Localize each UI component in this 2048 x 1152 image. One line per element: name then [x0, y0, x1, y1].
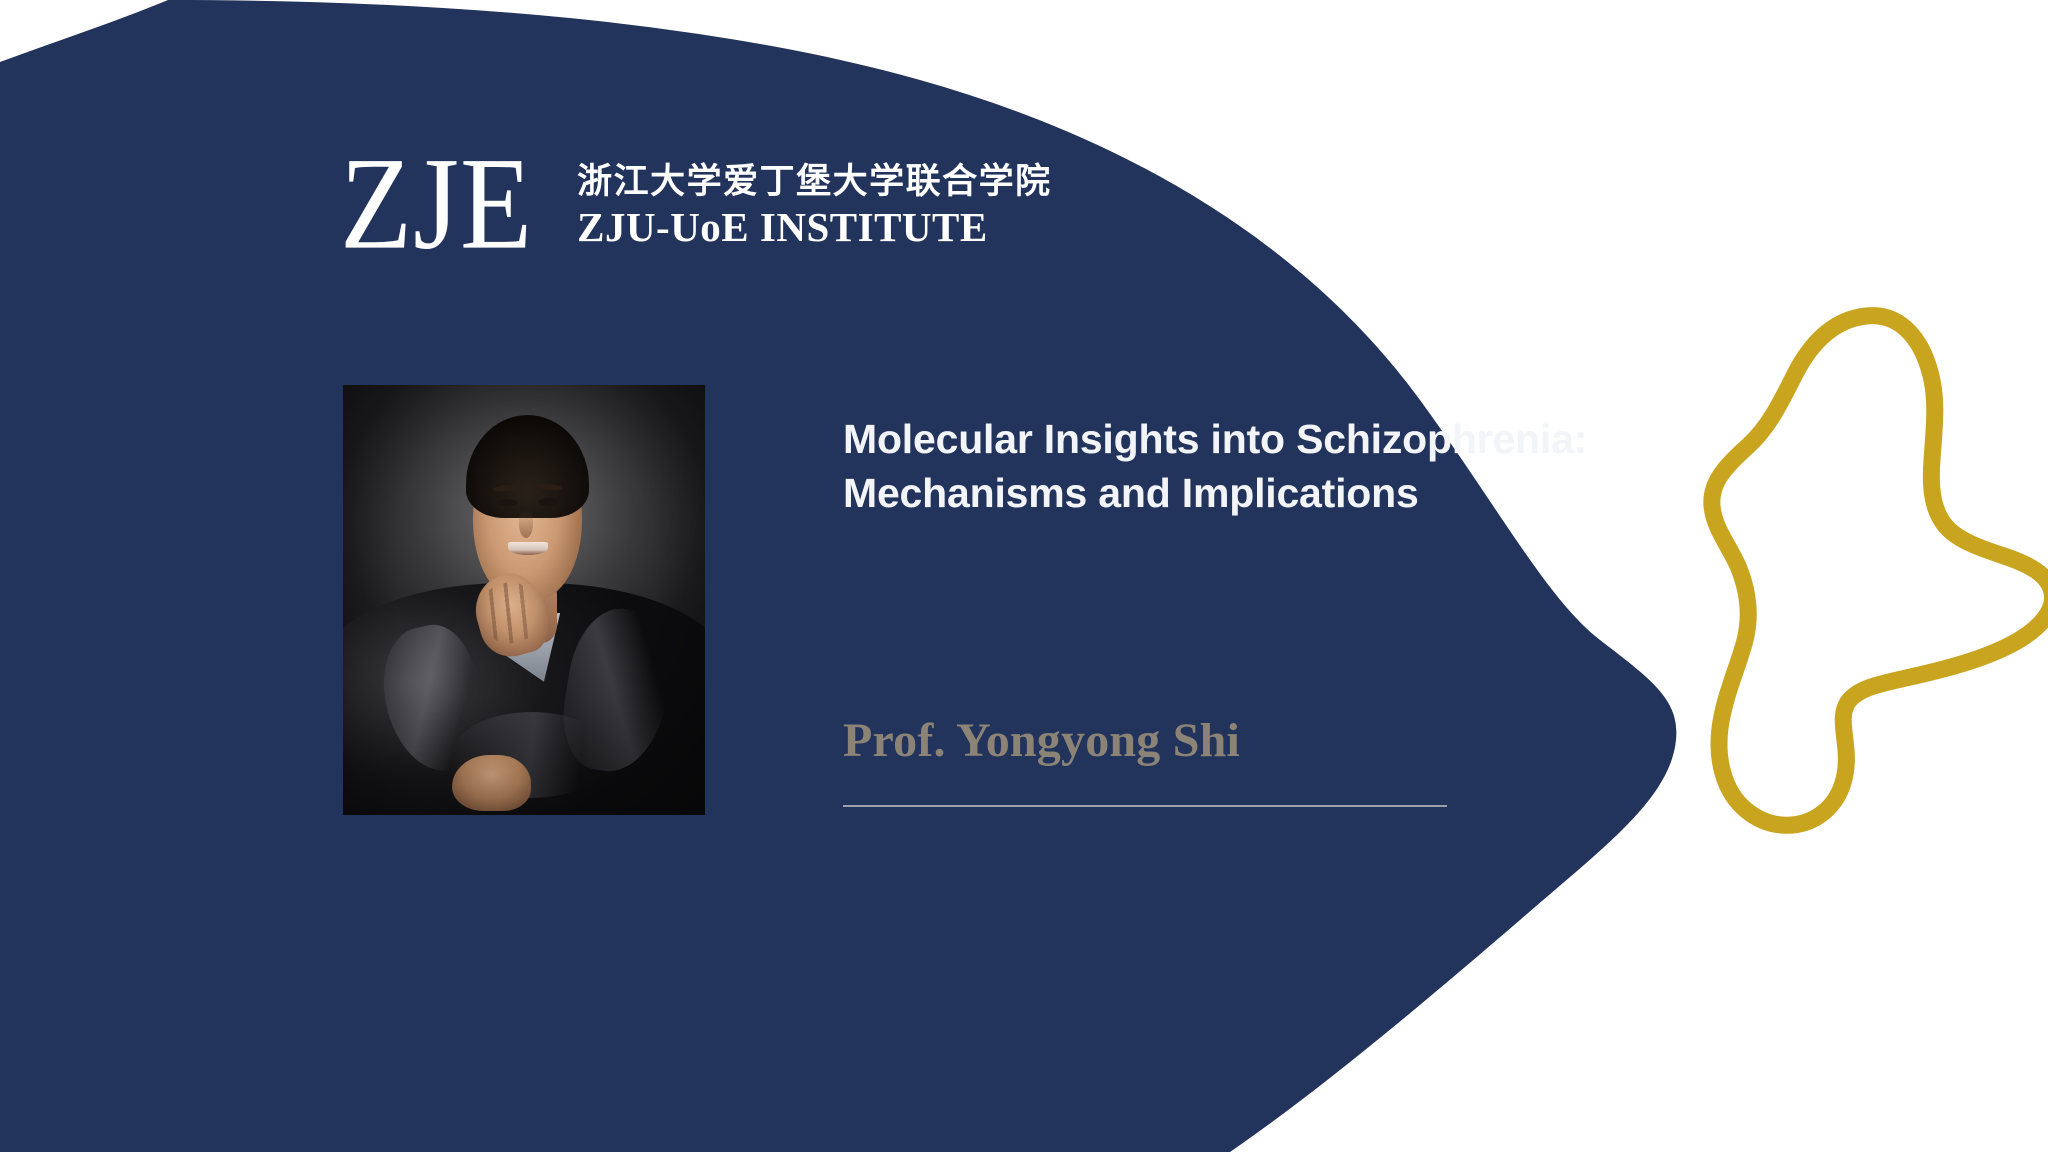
- speaker-divider-rule: [843, 805, 1447, 807]
- title-slide: ZJE 浙江大学爱丁堡大学联合学院 ZJU-UoE INSTITUTE Mole…: [0, 0, 2048, 1152]
- institute-logo: ZJE 浙江大学爱丁堡大学联合学院 ZJU-UoE INSTITUTE: [340, 148, 1052, 260]
- institute-name-block: 浙江大学爱丁堡大学联合学院 ZJU-UoE INSTITUTE: [577, 159, 1052, 248]
- speaker-portrait-photo: [343, 385, 705, 815]
- zje-monogram: ZJE: [340, 141, 533, 267]
- institute-name-english: ZJU-UoE INSTITUTE: [577, 205, 1052, 249]
- yellow-loop-decoration: [1690, 300, 2048, 860]
- speaker-name: Prof. Yongyong Shi: [843, 712, 1240, 770]
- talk-title-line-2: Mechanisms and Implications: [843, 466, 1633, 520]
- institute-name-chinese: 浙江大学爱丁堡大学联合学院: [577, 163, 1052, 202]
- portrait-vignette: [343, 385, 705, 815]
- talk-title-line-1: Molecular Insights into Schizophrenia:: [843, 412, 1633, 466]
- talk-title: Molecular Insights into Schizophrenia: M…: [843, 412, 1633, 520]
